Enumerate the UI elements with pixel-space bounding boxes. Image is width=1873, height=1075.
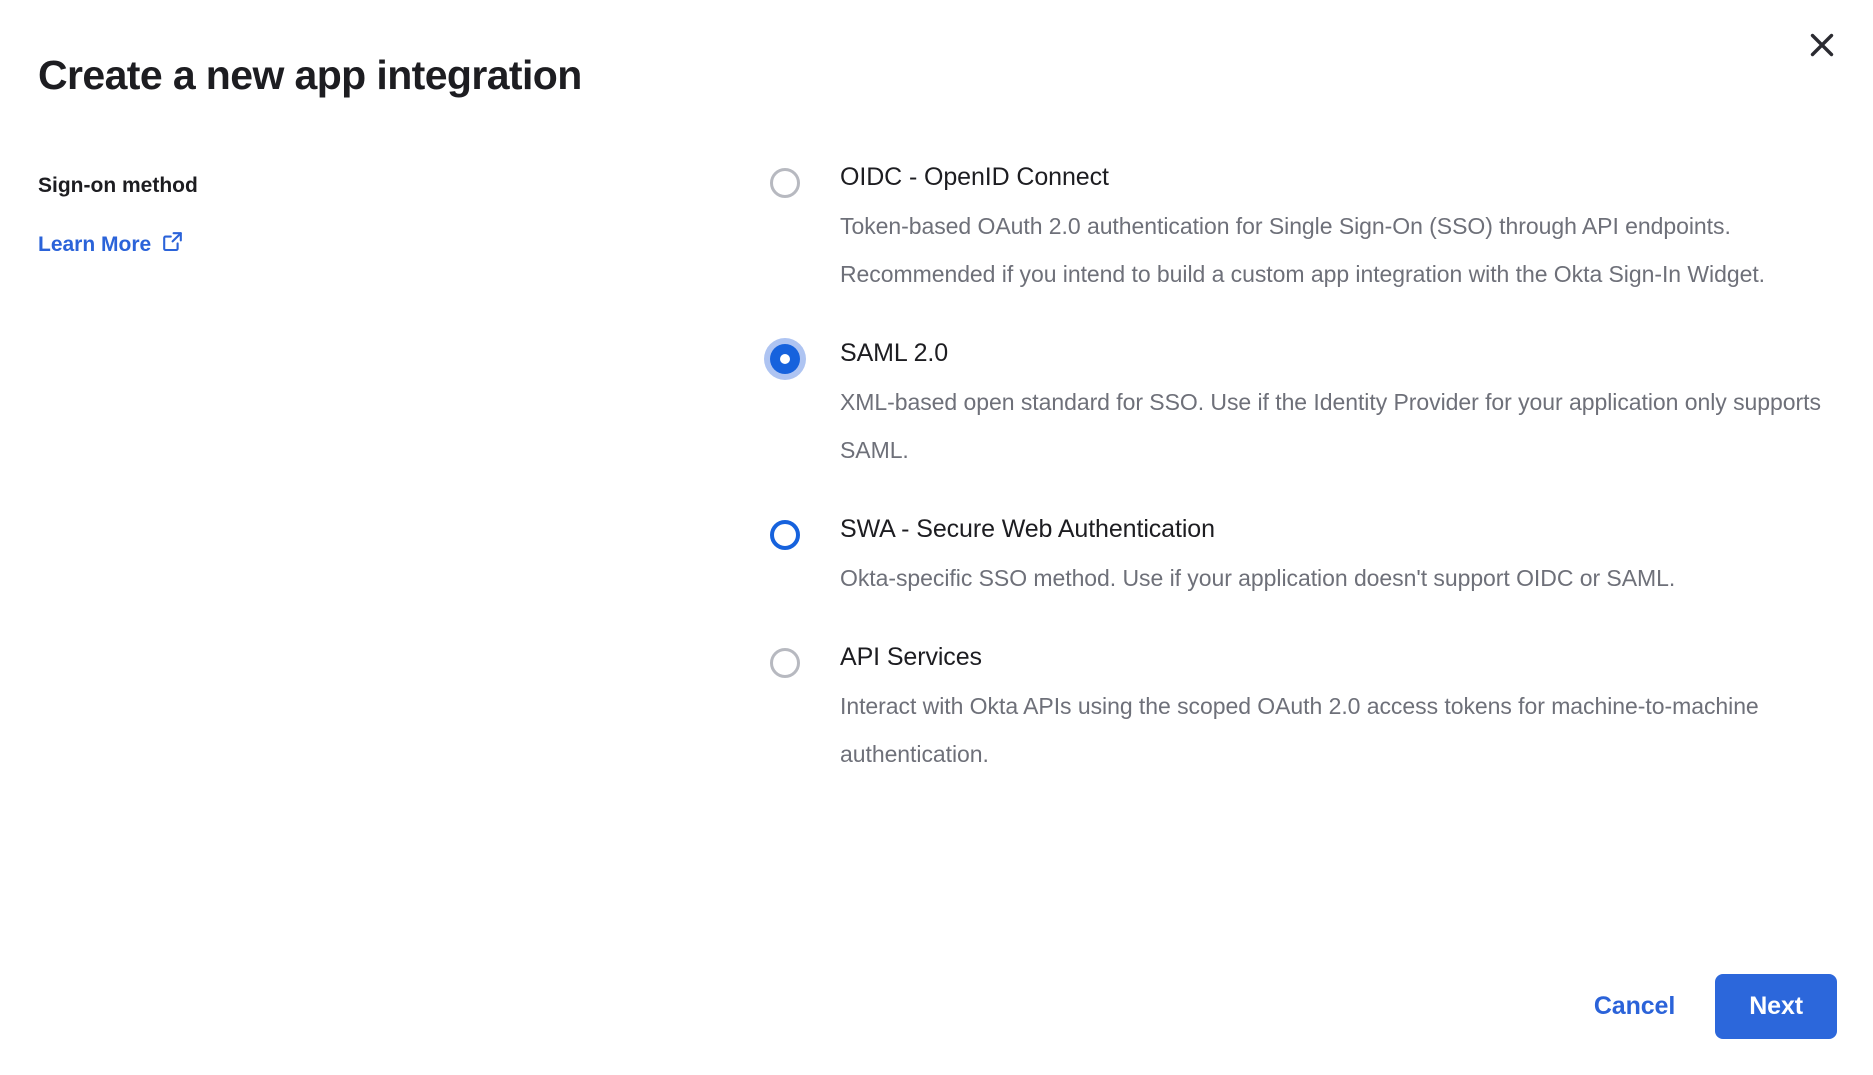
learn-more-label: Learn More xyxy=(38,231,151,259)
signon-method-radio-group[interactable]: OIDC - OpenID Connect Token-based OAuth … xyxy=(754,160,1829,778)
external-link-icon xyxy=(162,231,183,260)
radio-label-swa: SWA - Secure Web Authentication xyxy=(840,512,1829,546)
radio-icon-saml[interactable] xyxy=(770,344,800,374)
radio-icon-swa[interactable] xyxy=(770,520,800,550)
radio-label-saml: SAML 2.0 xyxy=(840,336,1829,370)
radio-description-swa: Okta-specific SSO method. Use if your ap… xyxy=(840,554,1829,602)
radio-option-saml[interactable]: SAML 2.0 XML-based open standard for SSO… xyxy=(754,336,1829,474)
radio-description-saml: XML-based open standard for SSO. Use if … xyxy=(840,378,1829,474)
form-left-column: Sign-on method Learn More xyxy=(38,172,558,260)
cancel-button[interactable]: Cancel xyxy=(1588,982,1681,1031)
close-icon xyxy=(1809,32,1835,58)
radio-icon-api-services[interactable] xyxy=(770,648,800,678)
signon-method-label: Sign-on method xyxy=(38,172,558,200)
radio-label-oidc: OIDC - OpenID Connect xyxy=(840,160,1829,194)
close-dialog-button[interactable] xyxy=(1799,22,1845,68)
learn-more-link[interactable]: Learn More xyxy=(38,230,183,260)
page-title: Create a new app integration xyxy=(38,48,582,102)
radio-option-api-services[interactable]: API Services Interact with Okta APIs usi… xyxy=(754,640,1829,778)
dialog-footer: Cancel Next xyxy=(1588,974,1837,1039)
radio-option-oidc[interactable]: OIDC - OpenID Connect Token-based OAuth … xyxy=(754,160,1829,298)
radio-description-oidc: Token-based OAuth 2.0 authentication for… xyxy=(840,202,1829,298)
radio-label-api-services: API Services xyxy=(840,640,1829,674)
radio-icon-oidc[interactable] xyxy=(770,168,800,198)
radio-description-api-services: Interact with Okta APIs using the scoped… xyxy=(840,682,1829,778)
radio-option-swa[interactable]: SWA - Secure Web Authentication Okta-spe… xyxy=(754,512,1829,602)
next-button[interactable]: Next xyxy=(1715,974,1837,1039)
